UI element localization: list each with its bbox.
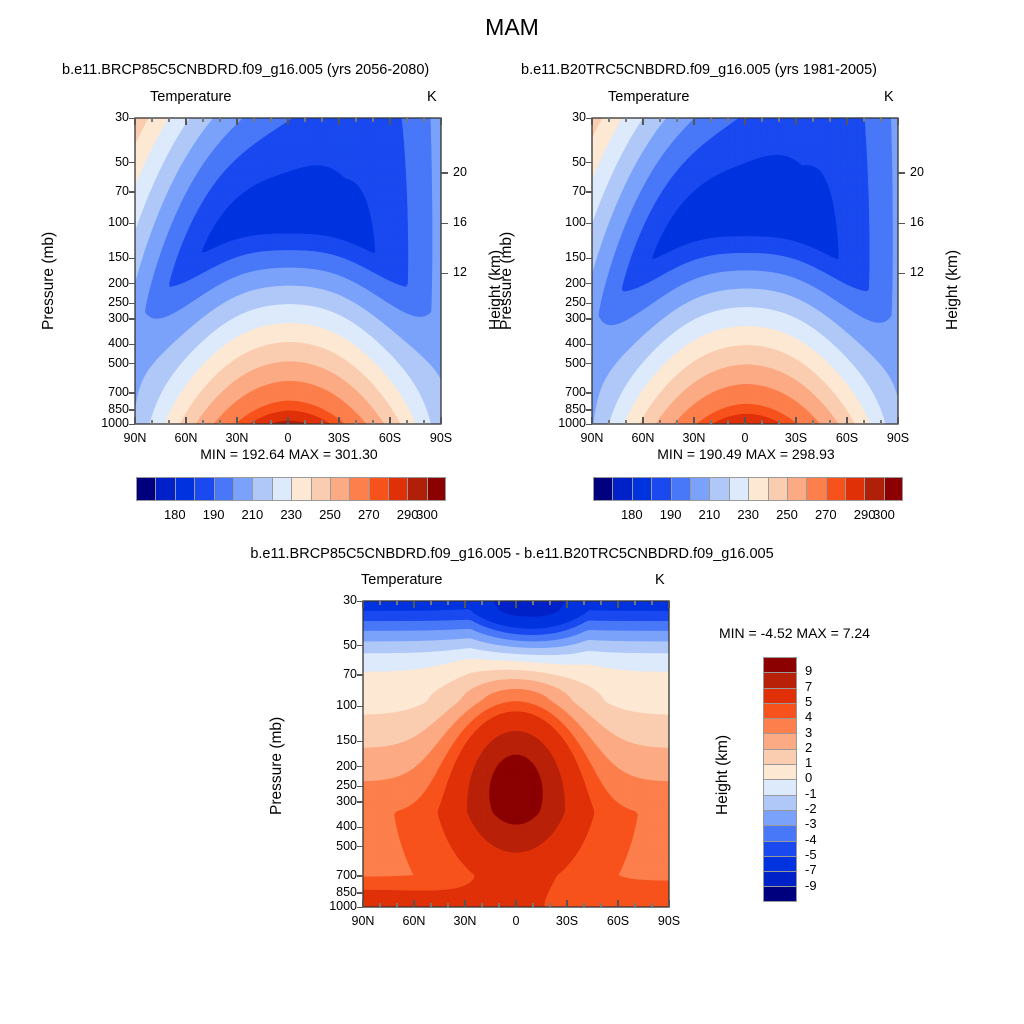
- colorbar-cell: [763, 718, 797, 733]
- x-minor-tick-mark: [549, 903, 550, 907]
- colorbar-tick-label: 3: [805, 725, 812, 740]
- x-minor-tick-mark: [270, 118, 271, 122]
- colorbar-cell: [763, 841, 797, 856]
- colorbar-cell: [272, 477, 291, 501]
- variable-label-right: Temperature: [608, 89, 689, 105]
- x-minor-tick-mark: [659, 118, 660, 122]
- x-tick-label: 30S: [771, 431, 821, 445]
- minmax-diff: MIN = -4.52 MAX = 7.24: [719, 625, 870, 641]
- x-tick-mark: [389, 417, 390, 424]
- y-tick-label: 400: [309, 819, 357, 833]
- y-tick-mark: [129, 318, 135, 319]
- y-tick-label: 1000: [81, 416, 129, 430]
- x-minor-tick-mark: [355, 420, 356, 424]
- y2-tick-mark: [898, 172, 905, 173]
- x-tick-mark: [413, 900, 414, 907]
- x-minor-tick-mark: [151, 118, 152, 122]
- x-tick-mark: [185, 118, 186, 125]
- x-tick-mark: [744, 118, 745, 125]
- x-tick-label: 60N: [618, 431, 668, 445]
- x-tick-label: 90S: [873, 431, 923, 445]
- y-tick-label: 300: [538, 311, 586, 325]
- x-tick-mark: [795, 118, 796, 125]
- x-minor-tick-mark: [880, 420, 881, 424]
- colorbar-cell: [136, 477, 155, 501]
- x-minor-tick-mark: [202, 420, 203, 424]
- colorbar-cell: [768, 477, 787, 501]
- y-tick-label: 50: [81, 155, 129, 169]
- colorbar-tick-label: 7: [805, 679, 812, 694]
- y-tick-label: 1000: [538, 416, 586, 430]
- x-minor-tick-mark: [423, 420, 424, 424]
- y-tick-mark: [586, 223, 592, 224]
- x-minor-tick-mark: [625, 420, 626, 424]
- x-minor-tick-mark: [270, 420, 271, 424]
- colorbar-cell: [806, 477, 825, 501]
- x-minor-tick-mark: [372, 420, 373, 424]
- colorbar-cell: [763, 764, 797, 779]
- contour-plot-right: [592, 118, 898, 424]
- x-minor-tick-mark: [168, 420, 169, 424]
- x-minor-tick-mark: [168, 118, 169, 122]
- y-tick-label: 700: [81, 385, 129, 399]
- y-tick-mark: [586, 363, 592, 364]
- x-minor-tick-mark: [396, 601, 397, 605]
- x-minor-tick-mark: [634, 601, 635, 605]
- colorbar-swatches: [763, 657, 797, 902]
- x-minor-tick-mark: [710, 420, 711, 424]
- x-minor-tick-mark: [532, 601, 533, 605]
- x-minor-tick-mark: [625, 118, 626, 122]
- y-tick-label: 300: [81, 311, 129, 325]
- y-tick-label: 150: [309, 733, 357, 747]
- colorbar-tick-label: -9: [805, 878, 817, 893]
- x-minor-tick-mark: [447, 903, 448, 907]
- x-minor-tick-mark: [829, 118, 830, 122]
- colorbar-cell: [763, 795, 797, 810]
- x-tick-mark: [515, 601, 516, 608]
- colorbar-cell: [729, 477, 748, 501]
- colorbar-cell: [593, 477, 612, 501]
- y-tick-mark: [129, 162, 135, 163]
- y2-tick-label: 20: [910, 165, 924, 179]
- x-minor-tick-mark: [151, 420, 152, 424]
- y-tick-label: 700: [538, 385, 586, 399]
- y-tick-mark: [129, 223, 135, 224]
- x-minor-tick-mark: [863, 420, 864, 424]
- x-tick-label: 90S: [416, 431, 466, 445]
- x-minor-tick-mark: [778, 118, 779, 122]
- unit-label-right: K: [884, 89, 894, 105]
- x-minor-tick-mark: [812, 420, 813, 424]
- x-minor-tick-mark: [676, 118, 677, 122]
- y-tick-mark: [586, 318, 592, 319]
- colorbar-cell: [214, 477, 233, 501]
- x-tick-mark: [642, 417, 643, 424]
- x-minor-tick-mark: [676, 420, 677, 424]
- y-tick-label: 70: [309, 667, 357, 681]
- y-tick-mark: [129, 303, 135, 304]
- y-tick-mark: [357, 846, 363, 847]
- x-minor-tick-mark: [583, 601, 584, 605]
- y-tick-label: 50: [309, 638, 357, 652]
- colorbar-cell: [709, 477, 728, 501]
- x-minor-tick-mark: [498, 601, 499, 605]
- colorbar-cell: [369, 477, 388, 501]
- colorbar-cell: [194, 477, 213, 501]
- colorbar-tick-label: 5: [805, 694, 812, 709]
- x-minor-tick-mark: [423, 118, 424, 122]
- colorbar-tick-label: 2: [805, 740, 812, 755]
- x-minor-tick-mark: [880, 118, 881, 122]
- x-tick-mark: [693, 417, 694, 424]
- x-tick-mark: [515, 900, 516, 907]
- y-tick-mark: [129, 258, 135, 259]
- y-tick-label: 250: [81, 295, 129, 309]
- x-tick-label: 30S: [542, 914, 592, 928]
- x-tick-label: 0: [491, 914, 541, 928]
- y2-tick-label: 16: [910, 215, 924, 229]
- panel-title-left: b.e11.BRCP85C5CNBDRD.f09_g16.005 (yrs 20…: [62, 62, 429, 78]
- y2-tick-mark: [441, 223, 448, 224]
- y-tick-mark: [129, 363, 135, 364]
- x-minor-tick-mark: [379, 903, 380, 907]
- x-tick-mark: [389, 118, 390, 125]
- colorbar-tick-label: -1: [805, 786, 817, 801]
- y-tick-mark: [586, 162, 592, 163]
- x-tick-mark: [413, 601, 414, 608]
- colorbar-cell: [763, 703, 797, 718]
- x-minor-tick-mark: [863, 118, 864, 122]
- x-minor-tick-mark: [219, 118, 220, 122]
- x-tick-label: 60S: [365, 431, 415, 445]
- colorbar-cell: [763, 657, 797, 672]
- colorbar-cell: [671, 477, 690, 501]
- y-tick-label: 250: [538, 295, 586, 309]
- x-minor-tick-mark: [583, 903, 584, 907]
- x-tick-mark: [287, 118, 288, 125]
- y2-tick-label: 16: [453, 215, 467, 229]
- y-tick-label: 100: [538, 215, 586, 229]
- y-tick-label: 300: [309, 794, 357, 808]
- page-title: MAM: [0, 14, 1024, 41]
- y-tick-mark: [129, 409, 135, 410]
- y2-tick-label: 12: [910, 265, 924, 279]
- x-tick-label: 30S: [314, 431, 364, 445]
- x-minor-tick-mark: [396, 903, 397, 907]
- colorbar-cell: [651, 477, 670, 501]
- colorbar-cell: [763, 688, 797, 703]
- x-tick-mark: [287, 417, 288, 424]
- colorbar-tick-label: 300: [860, 507, 908, 522]
- y-tick-mark: [586, 344, 592, 345]
- y-tick-mark: [586, 283, 592, 284]
- colorbar-swatches: [593, 477, 903, 501]
- y-tick-mark: [129, 392, 135, 393]
- y-tick-mark: [586, 303, 592, 304]
- x-tick-mark: [642, 118, 643, 125]
- colorbar-cell: [252, 477, 271, 501]
- colorbar-cell: [763, 749, 797, 764]
- x-minor-tick-mark: [532, 903, 533, 907]
- colorbar-swatches: [136, 477, 446, 501]
- colorbar-tick-label: -7: [805, 862, 817, 877]
- x-tick-mark: [236, 118, 237, 125]
- x-minor-tick-mark: [406, 118, 407, 122]
- y-axis-label-right: Pressure (mb): [498, 232, 516, 330]
- y-tick-mark: [357, 827, 363, 828]
- x-minor-tick-mark: [321, 118, 322, 122]
- y-tick-mark: [357, 892, 363, 893]
- y2-tick-mark: [898, 223, 905, 224]
- colorbar-tick-label: 4: [805, 709, 812, 724]
- x-tick-mark: [464, 601, 465, 608]
- y-tick-label: 70: [538, 184, 586, 198]
- colorbar-cell: [612, 477, 631, 501]
- variable-label-diff: Temperature: [361, 572, 442, 588]
- x-tick-label: 60S: [593, 914, 643, 928]
- y-tick-label: 30: [81, 110, 129, 124]
- colorbar-cell: [349, 477, 368, 501]
- y2-axis-label-right: Height (km): [944, 250, 962, 330]
- x-tick-mark: [591, 417, 592, 424]
- y-axis-label-diff: Pressure (mb): [268, 717, 286, 815]
- colorbar-cell: [233, 477, 252, 501]
- x-tick-mark: [846, 417, 847, 424]
- colorbar-tick-label: -2: [805, 801, 817, 816]
- x-minor-tick-mark: [379, 601, 380, 605]
- x-tick-mark: [668, 601, 669, 608]
- y-tick-label: 200: [309, 759, 357, 773]
- y-tick-label: 500: [309, 839, 357, 853]
- x-tick-mark: [591, 118, 592, 125]
- x-tick-mark: [897, 417, 898, 424]
- y-tick-label: 1000: [309, 899, 357, 913]
- x-minor-tick-mark: [549, 601, 550, 605]
- x-tick-label: 60N: [161, 431, 211, 445]
- x-tick-mark: [464, 900, 465, 907]
- x-tick-mark: [440, 417, 441, 424]
- colorbar-cell: [763, 886, 797, 901]
- x-minor-tick-mark: [304, 420, 305, 424]
- colorbar-cell: [763, 871, 797, 886]
- x-minor-tick-mark: [634, 903, 635, 907]
- colorbar-tick-label: 0: [805, 770, 812, 785]
- x-tick-mark: [744, 417, 745, 424]
- colorbar-cell: [884, 477, 903, 501]
- x-tick-label: 90N: [338, 914, 388, 928]
- x-minor-tick-mark: [372, 118, 373, 122]
- x-minor-tick-mark: [253, 420, 254, 424]
- x-tick-mark: [617, 900, 618, 907]
- x-tick-mark: [897, 118, 898, 125]
- colorbar-cell: [407, 477, 426, 501]
- unit-label-diff: K: [655, 572, 665, 588]
- y-tick-label: 70: [81, 184, 129, 198]
- y-tick-label: 850: [81, 402, 129, 416]
- y-tick-mark: [357, 786, 363, 787]
- x-minor-tick-mark: [253, 118, 254, 122]
- variable-label-left: Temperature: [150, 89, 231, 105]
- x-minor-tick-mark: [608, 118, 609, 122]
- x-tick-label: 0: [720, 431, 770, 445]
- y-tick-mark: [586, 258, 592, 259]
- colorbar-cell: [632, 477, 651, 501]
- x-tick-mark: [440, 118, 441, 125]
- y2-tick-label: 12: [453, 265, 467, 279]
- y-tick-label: 400: [81, 336, 129, 350]
- colorbar-cell: [826, 477, 845, 501]
- y2-tick-mark: [441, 273, 448, 274]
- x-minor-tick-mark: [651, 601, 652, 605]
- x-tick-label: 30N: [440, 914, 490, 928]
- colorbar-cell: [311, 477, 330, 501]
- y-tick-label: 850: [538, 402, 586, 416]
- x-tick-label: 60N: [389, 914, 439, 928]
- x-minor-tick-mark: [600, 601, 601, 605]
- x-tick-mark: [338, 118, 339, 125]
- x-minor-tick-mark: [481, 903, 482, 907]
- colorbar-cell: [763, 856, 797, 871]
- y-tick-label: 700: [309, 868, 357, 882]
- y-tick-label: 150: [81, 250, 129, 264]
- colorbar-cell: [175, 477, 194, 501]
- x-minor-tick-mark: [651, 903, 652, 907]
- y-tick-mark: [586, 392, 592, 393]
- colorbar-cell: [427, 477, 446, 501]
- x-minor-tick-mark: [608, 420, 609, 424]
- y-tick-label: 200: [81, 276, 129, 290]
- x-minor-tick-mark: [812, 118, 813, 122]
- y-tick-mark: [357, 741, 363, 742]
- colorbar-cell: [787, 477, 806, 501]
- contour-plot-diff: [363, 601, 669, 907]
- y-tick-label: 250: [309, 778, 357, 792]
- y-tick-label: 500: [81, 356, 129, 370]
- x-minor-tick-mark: [321, 420, 322, 424]
- x-tick-mark: [236, 417, 237, 424]
- x-tick-mark: [362, 601, 363, 608]
- x-minor-tick-mark: [304, 118, 305, 122]
- unit-label-left: K: [427, 89, 437, 105]
- x-minor-tick-mark: [761, 118, 762, 122]
- x-minor-tick-mark: [406, 420, 407, 424]
- colorbar-cell: [748, 477, 767, 501]
- y-tick-label: 850: [309, 885, 357, 899]
- x-tick-mark: [617, 601, 618, 608]
- x-tick-label: 90N: [110, 431, 160, 445]
- y-tick-mark: [129, 191, 135, 192]
- x-minor-tick-mark: [219, 420, 220, 424]
- colorbar-cell: [763, 779, 797, 794]
- x-tick-label: 90N: [567, 431, 617, 445]
- y-tick-label: 200: [538, 276, 586, 290]
- x-tick-mark: [185, 417, 186, 424]
- x-tick-label: 60S: [822, 431, 872, 445]
- y2-tick-label: 20: [453, 165, 467, 179]
- x-tick-mark: [566, 601, 567, 608]
- x-tick-mark: [134, 118, 135, 125]
- x-minor-tick-mark: [498, 903, 499, 907]
- x-tick-mark: [693, 118, 694, 125]
- y-tick-mark: [357, 801, 363, 802]
- colorbar-cell: [864, 477, 883, 501]
- x-tick-mark: [362, 900, 363, 907]
- panel-title-right: b.e11.B20TRC5CNBDRD.f09_g16.005 (yrs 198…: [521, 62, 877, 78]
- x-minor-tick-mark: [727, 420, 728, 424]
- y-tick-mark: [357, 875, 363, 876]
- colorbar-cell: [763, 825, 797, 840]
- x-minor-tick-mark: [202, 118, 203, 122]
- x-minor-tick-mark: [355, 118, 356, 122]
- x-minor-tick-mark: [600, 903, 601, 907]
- y-tick-label: 100: [81, 215, 129, 229]
- colorbar-cell: [388, 477, 407, 501]
- colorbar-cell: [155, 477, 174, 501]
- colorbar-cell: [845, 477, 864, 501]
- y-tick-mark: [586, 191, 592, 192]
- y2-tick-mark: [441, 172, 448, 173]
- colorbar-cell: [763, 672, 797, 687]
- colorbar-tick-label: 300: [403, 507, 451, 522]
- colorbar-cell: [690, 477, 709, 501]
- x-minor-tick-mark: [481, 601, 482, 605]
- colorbar-cell: [330, 477, 349, 501]
- y-tick-label: 150: [538, 250, 586, 264]
- x-tick-label: 0: [263, 431, 313, 445]
- colorbar-cell: [291, 477, 310, 501]
- y-tick-mark: [586, 409, 592, 410]
- y-tick-mark: [129, 283, 135, 284]
- x-minor-tick-mark: [710, 118, 711, 122]
- y-tick-mark: [357, 706, 363, 707]
- minmax-right: MIN = 190.49 MAX = 298.93: [457, 446, 1024, 462]
- x-tick-mark: [668, 900, 669, 907]
- x-minor-tick-mark: [430, 601, 431, 605]
- y-tick-mark: [357, 674, 363, 675]
- x-minor-tick-mark: [727, 118, 728, 122]
- x-tick-mark: [795, 417, 796, 424]
- colorbar-tick-label: -4: [805, 832, 817, 847]
- x-tick-mark: [338, 417, 339, 424]
- y2-axis-label-diff: Height (km): [714, 735, 732, 815]
- x-minor-tick-mark: [761, 420, 762, 424]
- y-tick-label: 100: [309, 698, 357, 712]
- x-tick-mark: [566, 900, 567, 907]
- colorbar-cell: [763, 733, 797, 748]
- x-minor-tick-mark: [778, 420, 779, 424]
- y-tick-label: 50: [538, 155, 586, 169]
- y-tick-label: 500: [538, 356, 586, 370]
- y-tick-label: 400: [538, 336, 586, 350]
- x-minor-tick-mark: [447, 601, 448, 605]
- colorbar-tick-label: 1: [805, 755, 812, 770]
- x-tick-label: 30N: [212, 431, 262, 445]
- x-minor-tick-mark: [430, 903, 431, 907]
- panel-title-diff: b.e11.BRCP85C5CNBDRD.f09_g16.005 - b.e11…: [0, 546, 1024, 562]
- x-tick-mark: [134, 417, 135, 424]
- y-tick-mark: [129, 344, 135, 345]
- y-tick-mark: [357, 645, 363, 646]
- contour-plot-left: [135, 118, 441, 424]
- y2-tick-mark: [898, 273, 905, 274]
- y-tick-label: 30: [309, 593, 357, 607]
- x-tick-label: 30N: [669, 431, 719, 445]
- colorbar-cell: [763, 810, 797, 825]
- x-minor-tick-mark: [829, 420, 830, 424]
- x-tick-label: 90S: [644, 914, 694, 928]
- y-axis-label-left: Pressure (mb): [40, 232, 58, 330]
